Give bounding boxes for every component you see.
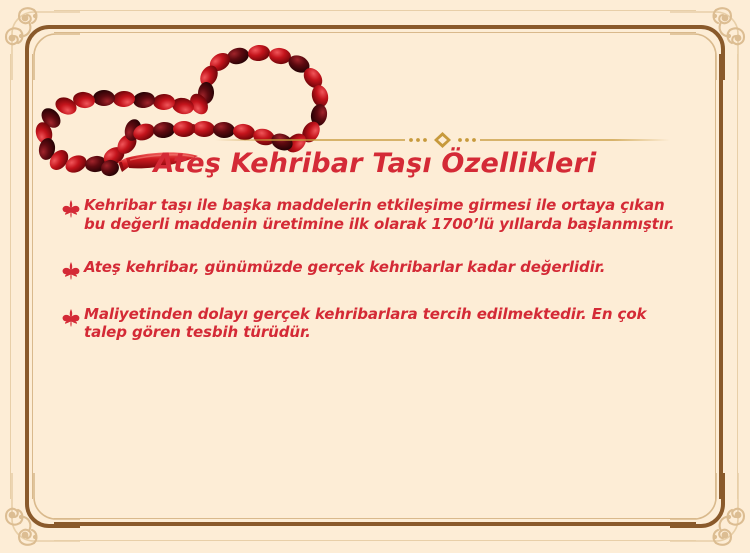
corner-ornament-bottom-right [668,471,746,549]
list-item: Kehribar taşı ile başka maddelerin etkil… [60,196,690,234]
gold-diamond-divider [215,132,670,148]
corner-mask-bottom-right [696,499,750,553]
fleur-de-lis-icon [60,308,82,328]
corner-ornament-bottom-left [4,471,82,549]
features-list: Kehribar taşı ile başka maddelerin etkil… [60,196,690,366]
list-item-text: Ateş kehribar, günümüzde gerçek kehribar… [84,258,684,277]
page-title: Ateş Kehribar Taşı Özellikleri [40,148,710,179]
fleur-de-lis-icon [60,199,82,219]
list-item: Ateş kehribar, günümüzde gerçek kehribar… [60,258,690,281]
corner-ornament-top-right [668,4,746,82]
list-item: Maliyetinden dolayı gerçek kehribarlara … [60,305,690,343]
corner-mask-top-right [696,0,750,54]
fleur-de-lis-icon [60,261,82,281]
list-item-text: Maliyetinden dolayı gerçek kehribarlara … [84,305,684,343]
poster-canvas: Ateş Kehribar Taşı Özellikleri Kehribar … [0,0,750,553]
list-item-text: Kehribar taşı ile başka maddelerin etkil… [84,196,684,234]
corner-mask-bottom-left [0,499,54,553]
